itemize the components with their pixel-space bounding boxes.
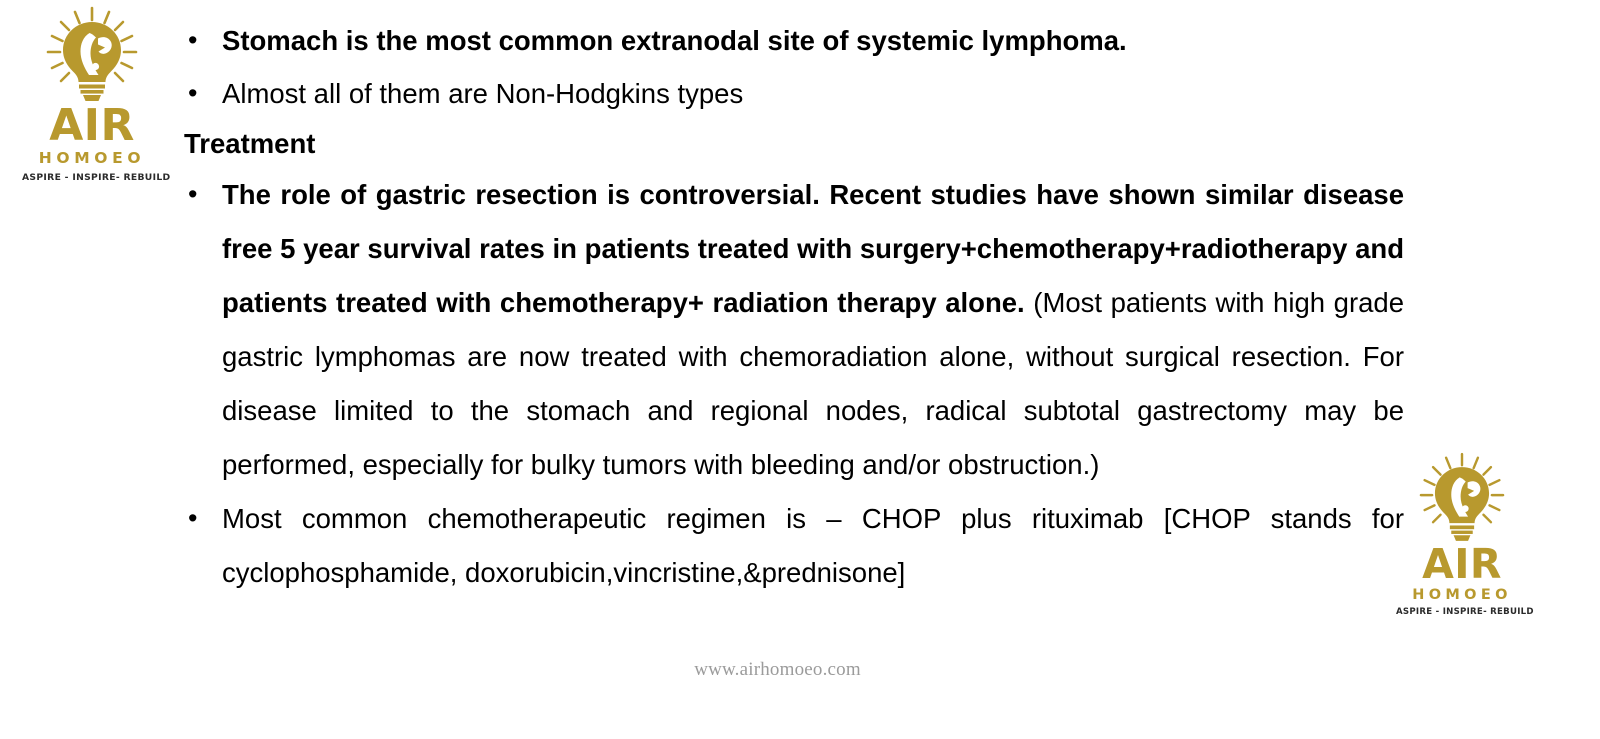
list-item: • Most common chemotherapeutic regimen i… [184,492,1404,600]
bullet-text-chop-regimen: Most common chemotherapeutic regimen is … [222,492,1404,600]
bullet-marker-icon: • [184,168,222,221]
logo-word-air: AIR [22,104,162,148]
bullet-marker-icon: • [184,14,222,67]
bullet-text-non-hodgkins: Almost all of them are Non-Hodgkins type… [222,67,1404,120]
logo-tagline: ASPIRE - INSPIRE- REBUILD [22,173,162,182]
bullet-text-lymphoma-site: Stomach is the most common extranodal si… [222,14,1404,67]
footer-website-url: www.airhomoeo.com [0,659,1555,681]
list-item: • The role of gastric resection is contr… [184,168,1404,492]
bullet-marker-icon: • [184,492,222,545]
logo-word-air: AIR [1396,544,1528,585]
logo-tagline: ASPIRE - INSPIRE- REBUILD [1396,608,1528,617]
heading-treatment: Treatment [184,120,1404,168]
list-item: • Stomach is the most common extranodal … [184,14,1404,67]
lightbulb-face-icon [22,6,162,106]
bullet-marker-icon: • [184,67,222,120]
logo-top-left: AIR HOMOEO ASPIRE - INSPIRE- REBUILD [22,6,162,182]
list-item: • Almost all of them are Non-Hodgkins ty… [184,67,1404,120]
logo-bottom-right: AIR HOMOEO ASPIRE - INSPIRE- REBUILD [1396,452,1528,616]
lightbulb-face-icon [1396,452,1528,546]
slide-content: • Stomach is the most common extranodal … [184,14,1404,600]
logo-word-homoeo: HOMOEO [1396,588,1528,603]
bullet-text-gastric-resection: The role of gastric resection is controv… [222,168,1404,492]
logo-word-homoeo: HOMOEO [22,151,162,167]
